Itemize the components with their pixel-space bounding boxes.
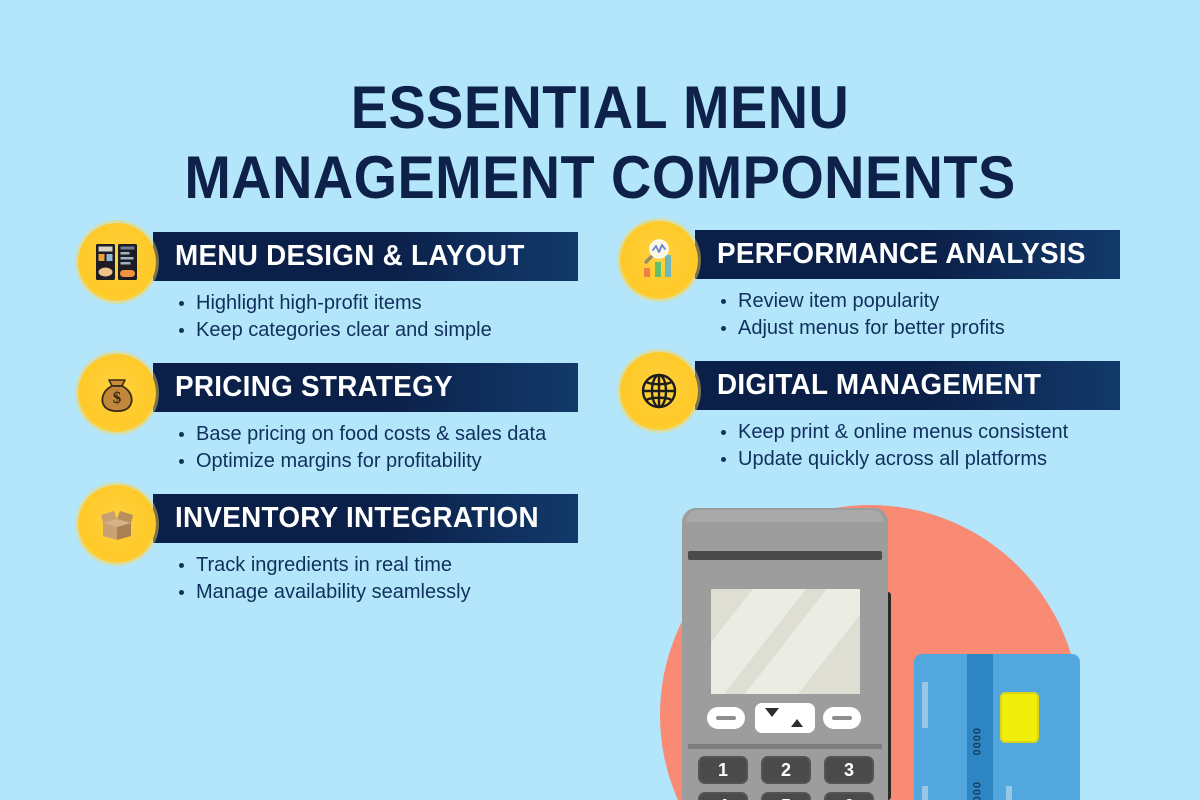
list-item: Adjust menus for better profits [738,315,1140,341]
card-number-bottom: 0000 [970,782,982,800]
card-title: INVENTORY INTEGRATION [175,502,539,535]
component-card-menu-design: MENU DESIGN & LAYOUT Highlight high-prof… [78,232,598,343]
money-bag-icon: $ [78,354,156,432]
card-title: MENU DESIGN & LAYOUT [175,240,525,273]
list-item: Highlight high-profit items [196,290,598,316]
list-item: Manage availability seamlessly [196,579,598,605]
card-header-bar: PERFORMANCE ANALYSIS [695,230,1120,279]
terminal-body: 1 2 3 4 5 6 [682,508,888,800]
terminal-top-edge [686,510,884,522]
component-card-digital-management: DIGITAL MANAGEMENT Keep print & online m… [620,361,1140,472]
card-decor-line [1006,786,1012,800]
component-card-performance-analysis: PERFORMANCE ANALYSIS Review item popular… [620,230,1140,341]
card-bullet-list: Keep print & online menus consistent Upd… [620,419,1140,472]
card-number-top: 0000 [970,728,982,756]
infographic-poster: ESSENTIAL MENU MANAGEMENT COMPONENTS [0,0,1200,800]
dash-icon [716,716,736,720]
left-column: MENU DESIGN & LAYOUT Highlight high-prof… [78,232,598,625]
card-bullet-list: Base pricing on food costs & sales data … [78,421,598,474]
keypad-key: 4 [698,792,748,800]
component-card-pricing-strategy: $ PRICING STRATEGY Base pricing on food … [78,363,598,474]
card-header-bar: INVENTORY INTEGRATION [153,494,578,543]
list-item: Track ingredients in real time [196,552,598,578]
magnifier-chart-icon [620,221,698,299]
card-bullet-list: Review item popularity Adjust menus for … [620,288,1140,341]
globe-icon [620,352,698,430]
list-item: Update quickly across all platforms [738,446,1140,472]
terminal-function-key-middle [755,703,815,733]
card-chip-icon [1000,692,1039,743]
list-item: Optimize margins for profitability [196,448,598,474]
terminal-screen [711,589,860,694]
title-line-1: ESSENTIAL MENU [42,78,1158,138]
card-decor-line [922,682,928,728]
page-title: ESSENTIAL MENU MANAGEMENT COMPONENTS [0,78,1200,208]
card-bullet-list: Track ingredients in real time Manage av… [78,552,598,605]
card-header-bar: PRICING STRATEGY [153,363,578,412]
card-title: PERFORMANCE ANALYSIS [717,238,1086,271]
card-title: PRICING STRATEGY [175,371,453,404]
keypad-key: 2 [761,756,811,784]
keypad-key: 1 [698,756,748,784]
title-line-2: MANAGEMENT COMPONENTS [42,148,1158,208]
list-item: Review item popularity [738,288,1140,314]
terminal-function-key-left [707,707,745,729]
card-title: DIGITAL MANAGEMENT [717,369,1041,402]
terminal-keypad: 1 2 3 4 5 6 [698,756,874,800]
pos-terminal-illustration: 1 2 3 4 5 6 [682,508,894,800]
terminal-function-key-right [823,707,861,729]
card-decor-line [922,786,928,800]
right-column: PERFORMANCE ANALYSIS Review item popular… [620,230,1140,492]
card-header-bar: DIGITAL MANAGEMENT [695,361,1120,410]
keypad-key: 3 [824,756,874,784]
list-item: Keep print & online menus consistent [738,419,1140,445]
open-box-icon [78,485,156,563]
keypad-key: 6 [824,792,874,800]
card-bullet-list: Highlight high-profit items Keep categor… [78,290,598,343]
list-item: Base pricing on food costs & sales data [196,421,598,447]
list-item: Keep categories clear and simple [196,317,598,343]
keypad-key: 5 [761,792,811,800]
dash-icon [832,716,852,720]
credit-card-illustration: 0000 0000 [914,654,1080,800]
card-reader-slot [688,551,882,560]
terminal-divider [688,744,882,749]
svg-text:$: $ [113,388,122,407]
chevron-up-icon [791,719,803,727]
card-header-bar: MENU DESIGN & LAYOUT [153,232,578,281]
chevron-down-icon [765,708,779,717]
menu-board-icon [78,223,156,301]
component-card-inventory-integration: INVENTORY INTEGRATION Track ingredients … [78,494,598,605]
card-magnetic-stripe [967,654,993,800]
